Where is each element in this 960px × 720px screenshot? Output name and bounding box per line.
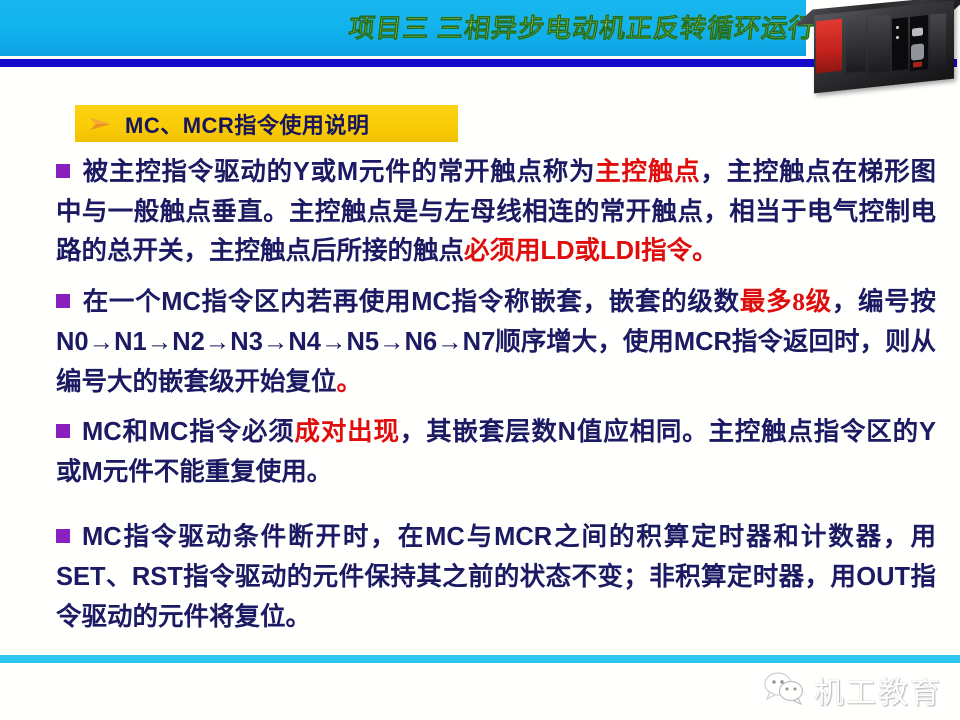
- slide-header: 项目三 三相异步电动机正反转循环运行的PLC控制: [0, 0, 960, 70]
- arrow-right-icon: [89, 116, 113, 132]
- text-run: OUT: [856, 563, 910, 591]
- text-run: MC: [82, 523, 122, 551]
- text-run: 或: [575, 236, 601, 265]
- text-run: 成对出现: [295, 417, 400, 446]
- wechat-bubbles-icon: [762, 671, 806, 710]
- section-title-box: MC、MCR指令使用说明: [75, 105, 458, 142]
- plc-indicator-strip: [913, 62, 922, 68]
- text-run: N0→N1→N2→N3→N4→N5→N6→N7: [56, 328, 495, 356]
- content-area: 被主控指令驱动的Y或M元件的常开触点称为主控触点，主控触点在梯形图中与一般触点垂…: [56, 152, 936, 647]
- text-run: 在一个: [82, 287, 161, 316]
- text-run: MC: [425, 523, 465, 551]
- watermark: 机工教育: [762, 668, 942, 712]
- text-run: 被主控指令驱动的: [82, 157, 293, 186]
- text-run: MC: [149, 418, 189, 446]
- text-run: LDI: [600, 237, 641, 265]
- text-run: M: [337, 158, 358, 186]
- text-run: SET、RST: [56, 563, 183, 591]
- text-run: M: [82, 458, 103, 486]
- plc-module-1: [846, 17, 866, 73]
- text-run: 指令驱动的元件保持其之前的状态不变；非积算定时器，用: [183, 562, 856, 591]
- text-run: 和: [122, 417, 149, 446]
- text-run: 指令驱动条件断开时，在: [122, 522, 425, 551]
- text-run: 指令必须: [188, 417, 294, 446]
- plc-red-module: [816, 19, 842, 74]
- text-run: Y: [293, 158, 310, 186]
- text-run: 顺序增大，使用: [495, 327, 674, 356]
- square-bullet-icon: [56, 294, 70, 308]
- text-run: 或: [56, 457, 82, 486]
- text-run: LD: [541, 237, 575, 265]
- text-run: 指令区内若再使用: [201, 287, 411, 316]
- plc-ethernet-port: [912, 27, 923, 36]
- text-run: 主控触点: [595, 157, 700, 186]
- text-run: Y: [919, 418, 936, 446]
- text-run: 最多8级: [740, 287, 832, 316]
- text-run: ，编号按: [832, 287, 936, 316]
- text-run: ，其嵌套层数: [400, 417, 558, 446]
- plc-serial-port: [911, 43, 924, 60]
- body-paragraph: MC指令驱动条件断开时，在MC与MCR之间的积算定时器和计数器，用SET、RST…: [56, 517, 936, 636]
- text-run: 必须用: [464, 236, 541, 265]
- square-bullet-icon: [56, 164, 70, 178]
- footer-divider-rule: [0, 655, 960, 663]
- text-run: 。: [337, 367, 363, 396]
- square-bullet-icon: [56, 529, 70, 543]
- text-run: MCR: [494, 523, 552, 551]
- text-run: 元件的常开触点称为: [358, 157, 595, 186]
- text-run: MC: [411, 288, 451, 316]
- square-bullet-icon: [56, 424, 70, 438]
- body-paragraph: 被主控指令驱动的Y或M元件的常开触点称为主控触点，主控触点在梯形图中与一般触点垂…: [56, 152, 936, 271]
- text-run: 元件不能重复使用。: [103, 457, 333, 486]
- plc-module-2: [868, 15, 890, 73]
- text-run: MC: [82, 418, 122, 446]
- text-run: N: [558, 418, 576, 446]
- text-run: MCR: [674, 328, 732, 356]
- text-run: 指令。: [641, 236, 718, 265]
- text-run: 与: [465, 522, 494, 551]
- body-paragraph: MC和MC指令必须成对出现，其嵌套层数N值应相同。主控触点指令区的Y或M元件不能…: [56, 412, 936, 492]
- plc-rack-photo: [806, 0, 960, 96]
- text-run: 值应相同。主控触点指令区的: [576, 417, 919, 446]
- plc-slot-1: [892, 17, 908, 71]
- section-title-label: MC、MCR指令使用说明: [125, 108, 369, 140]
- body-paragraph: 在一个MC指令区内若再使用MC指令称嵌套，嵌套的级数最多8级，编号按N0→N1→…: [56, 282, 936, 401]
- plc-module-3: [930, 13, 946, 69]
- text-run: 之间的积算定时器和计数器，用: [552, 522, 936, 551]
- text-run: 或: [310, 157, 337, 186]
- watermark-label: 机工教育: [814, 668, 942, 712]
- text-run: 指令称嵌套，嵌套的级数: [451, 287, 740, 316]
- text-run: MC: [161, 288, 201, 316]
